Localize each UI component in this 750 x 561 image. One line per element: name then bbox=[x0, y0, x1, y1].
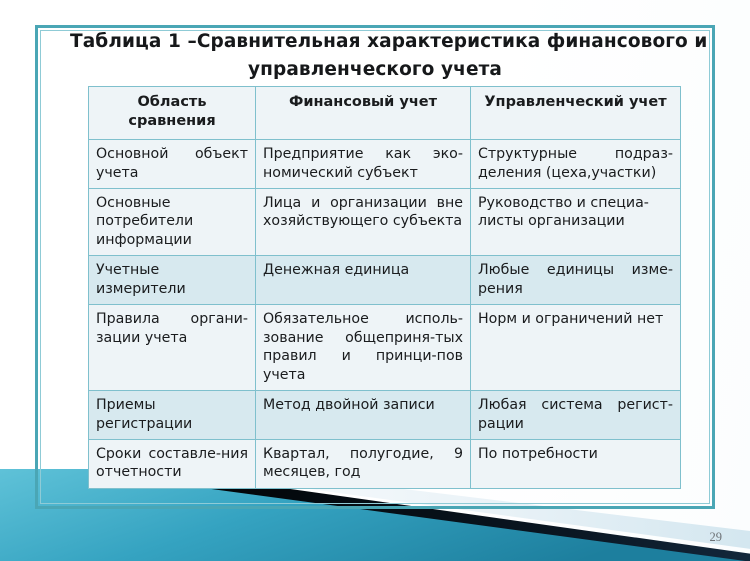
cell-area-text: Учетные измерители bbox=[96, 261, 248, 298]
cell-managerial: По потребности bbox=[471, 439, 681, 488]
cell-managerial: Любая система регист-рации bbox=[471, 391, 681, 440]
cell-managerial: Руководство и специа-листы организации bbox=[471, 189, 681, 256]
table-header-row: Область сравнения Финансовый учет Управл… bbox=[89, 87, 681, 140]
slide-canvas: Таблица 1 –Сравнительная характеристика … bbox=[0, 0, 750, 561]
column-header-financial: Финансовый учет bbox=[256, 87, 471, 140]
cell-area: Основной объект учета bbox=[89, 140, 256, 189]
comparison-table: Область сравнения Финансовый учет Управл… bbox=[88, 86, 681, 489]
cell-financial: Обязательное исполь-зование общеприня-ты… bbox=[256, 305, 471, 391]
cell-managerial-text: Руководство и специа-листы организации bbox=[478, 194, 673, 231]
comparison-table-container: Область сравнения Финансовый учет Управл… bbox=[88, 86, 680, 489]
cell-managerial: Структурные подраз-деления (цеха,участки… bbox=[471, 140, 681, 189]
table-body: Основной объект учета Предприятие как эк… bbox=[89, 140, 681, 489]
cell-area-text: Сроки составле-ния отчетности bbox=[96, 445, 248, 482]
cell-area: Основные потребители информации bbox=[89, 189, 256, 256]
cell-financial-text: Метод двойной записи bbox=[263, 396, 463, 414]
cell-managerial-text: Любые единицы изме-рения bbox=[478, 261, 673, 298]
table-row: Основной объект учета Предприятие как эк… bbox=[89, 140, 681, 189]
column-header-area: Область сравнения bbox=[89, 87, 256, 140]
column-header-managerial: Управленческий учет bbox=[471, 87, 681, 140]
cell-area-text: Правила органи-зации учета bbox=[96, 310, 248, 347]
title-line-2: управленческого учета bbox=[70, 56, 680, 84]
table-row: Сроки составле-ния отчетности Квартал, п… bbox=[89, 439, 681, 488]
cell-managerial: Норм и ограничений нет bbox=[471, 305, 681, 391]
cell-financial: Метод двойной записи bbox=[256, 391, 471, 440]
column-header-area-line2: сравнения bbox=[128, 113, 215, 129]
cell-managerial-text: Норм и ограничений нет bbox=[478, 310, 673, 328]
table-row: Приемы регистрации Метод двойной записи … bbox=[89, 391, 681, 440]
slide-title: Таблица 1 –Сравнительная характеристика … bbox=[70, 28, 680, 84]
table-row: Основные потребители информации Лица и о… bbox=[89, 189, 681, 256]
table-row: Учетные измерители Денежная единица Любы… bbox=[89, 256, 681, 305]
page-number: 29 bbox=[710, 530, 723, 545]
cell-managerial-text: Структурные подраз-деления (цеха,участки… bbox=[478, 145, 673, 182]
cell-managerial: Любые единицы изме-рения bbox=[471, 256, 681, 305]
cell-area-text: Основной объект учета bbox=[96, 145, 248, 182]
cell-financial: Предприятие как эко-номический субъект bbox=[256, 140, 471, 189]
cell-financial: Квартал, полугодие, 9 месяцев, год bbox=[256, 439, 471, 488]
cell-financial-text: Квартал, полугодие, 9 месяцев, год bbox=[263, 445, 463, 482]
cell-managerial-text: Любая система регист-рации bbox=[478, 396, 673, 433]
cell-area-text: Приемы регистрации bbox=[96, 396, 248, 433]
cell-area: Сроки составле-ния отчетности bbox=[89, 439, 256, 488]
cell-financial: Лица и организации вне хозяйствующего су… bbox=[256, 189, 471, 256]
title-line-1: Таблица 1 –Сравнительная характеристика … bbox=[70, 28, 680, 56]
cell-financial-text: Обязательное исполь-зование общеприня-ты… bbox=[263, 310, 463, 384]
cell-financial-text: Денежная единица bbox=[263, 261, 463, 279]
cell-managerial-text: По потребности bbox=[478, 445, 673, 463]
cell-area: Приемы регистрации bbox=[89, 391, 256, 440]
cell-area-text: Основные потребители информации bbox=[96, 194, 248, 249]
cell-area: Правила органи-зации учета bbox=[89, 305, 256, 391]
table-head: Область сравнения Финансовый учет Управл… bbox=[89, 87, 681, 140]
cell-financial-text: Лица и организации вне хозяйствующего су… bbox=[263, 194, 463, 231]
column-header-area-line1: Область bbox=[137, 94, 206, 110]
cell-financial: Денежная единица bbox=[256, 256, 471, 305]
cell-financial-text: Предприятие как эко-номический субъект bbox=[263, 145, 463, 182]
table-row: Правила органи-зации учета Обязательное … bbox=[89, 305, 681, 391]
cell-area: Учетные измерители bbox=[89, 256, 256, 305]
